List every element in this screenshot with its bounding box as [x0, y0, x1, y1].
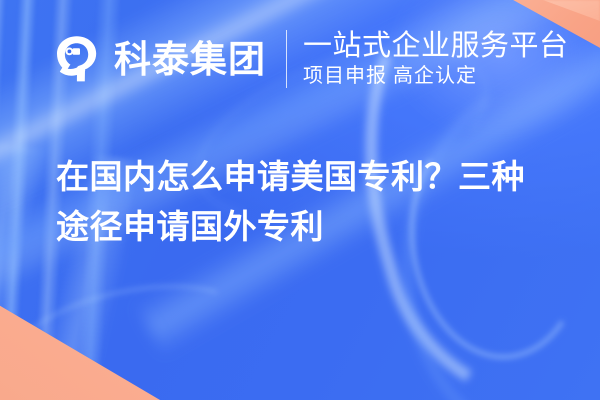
- title-line-2: 途径申请国外专利: [56, 202, 556, 252]
- brand-name: 科泰集团: [114, 41, 266, 78]
- tagline-main: 一站式企业服务平台: [303, 29, 569, 61]
- title-line-1: 在国内怎么申请美国专利？三种: [56, 152, 556, 202]
- tagline-block: 一站式企业服务平台 项目申报 高企认定: [303, 29, 569, 88]
- ketai-logo-icon: [50, 33, 102, 85]
- tagline-sub: 项目申报 高企认定: [303, 64, 569, 89]
- banner-header: 科泰集团 一站式企业服务平台 项目申报 高企认定: [0, 0, 600, 118]
- page-title: 在国内怎么申请美国专利？三种 途径申请国外专利: [56, 152, 556, 252]
- promo-banner: 科泰集团 一站式企业服务平台 项目申报 高企认定 在国内怎么申请美国专利？三种 …: [0, 0, 600, 400]
- header-divider: [286, 30, 287, 88]
